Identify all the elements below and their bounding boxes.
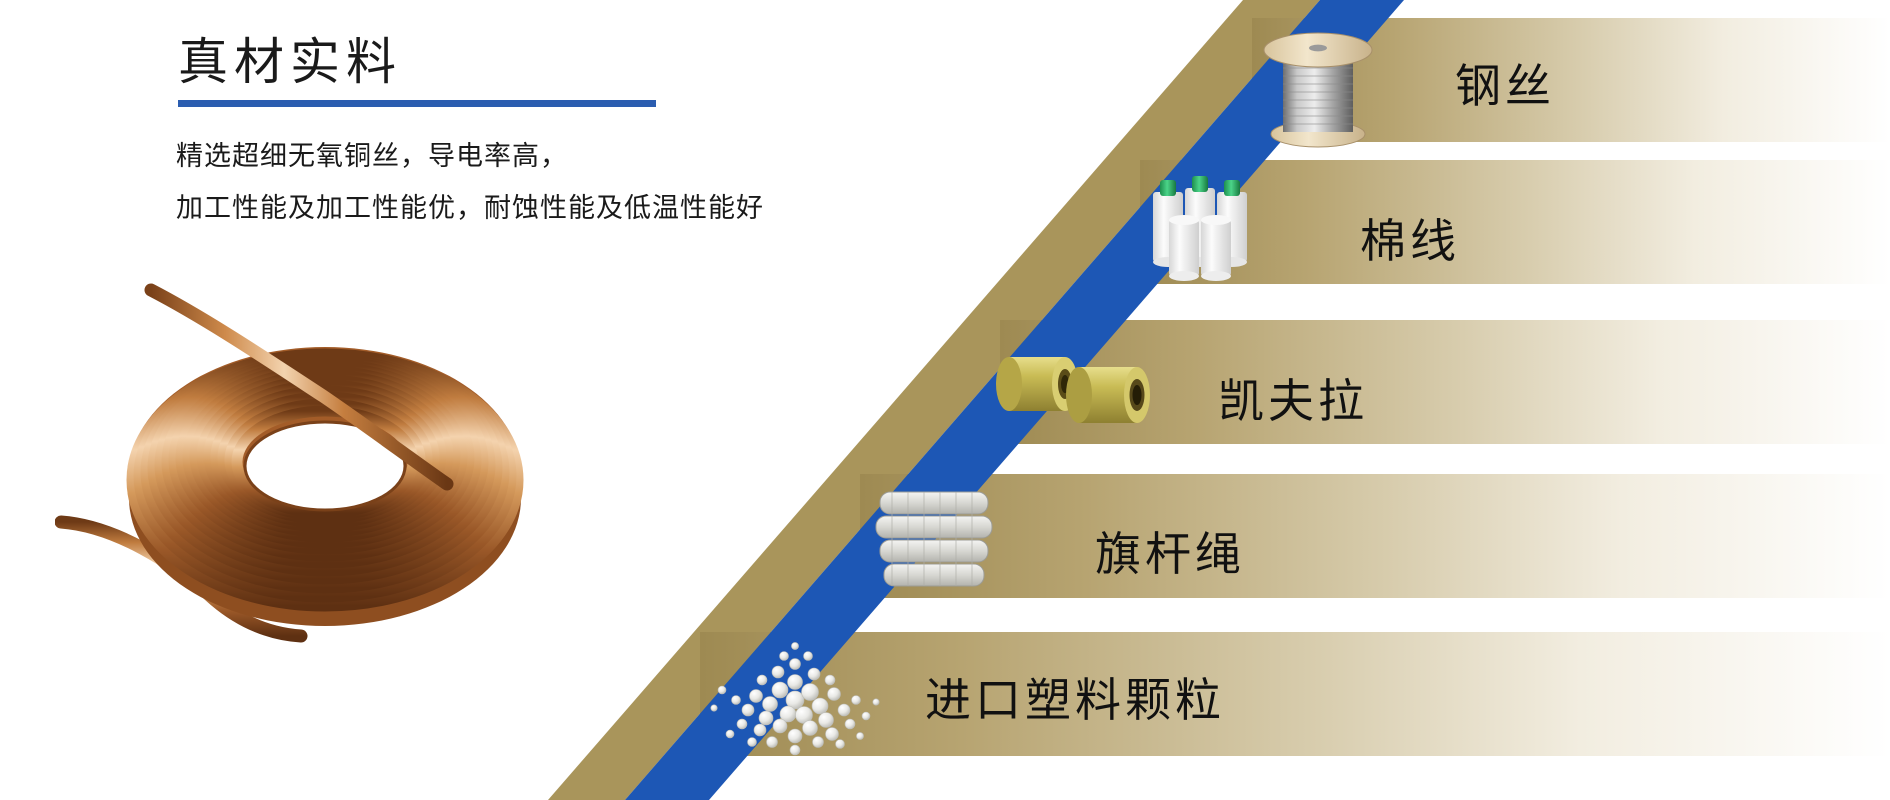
steel-wire-spool-image	[1243, 6, 1393, 161]
copper-wire-coil-image	[55, 270, 595, 670]
flagpole-rope-coils-image	[862, 482, 1012, 605]
material-label-plastic-pellets: 进口塑料颗粒	[925, 664, 1225, 730]
cotton-thread-spools-image	[1133, 168, 1268, 293]
description-text: 精选超细无氧铜丝，导电率高， 加工性能及加工性能优，耐蚀性能及低温性能好	[176, 130, 916, 234]
material-label-flagpole-rope: 旗杆绳	[1095, 518, 1245, 584]
material-label-cotton-thread: 棉线	[1360, 205, 1460, 271]
page-title: 真材实料	[178, 22, 402, 94]
material-label-steel-wire: 钢丝	[1455, 50, 1555, 116]
kevlar-aramid-rolls-image	[995, 335, 1160, 445]
description-line-1: 精选超细无氧铜丝，导电率高，	[176, 130, 916, 182]
description-line-2: 加工性能及加工性能优，耐蚀性能及低温性能好	[176, 182, 916, 234]
material-label-kevlar: 凯夫拉	[1218, 365, 1368, 431]
material-band-3	[860, 474, 1890, 598]
promo-banner: 真材实料 精选超细无氧铜丝，导电率高， 加工性能及加工性能优，耐蚀性能及低温性能…	[0, 0, 1890, 800]
plastic-pellets-image	[700, 630, 890, 775]
left-content-column: 真材实料 精选超细无氧铜丝，导电率高， 加工性能及加工性能优，耐蚀性能及低温性能…	[0, 0, 760, 800]
title-underline-rule	[178, 100, 656, 107]
